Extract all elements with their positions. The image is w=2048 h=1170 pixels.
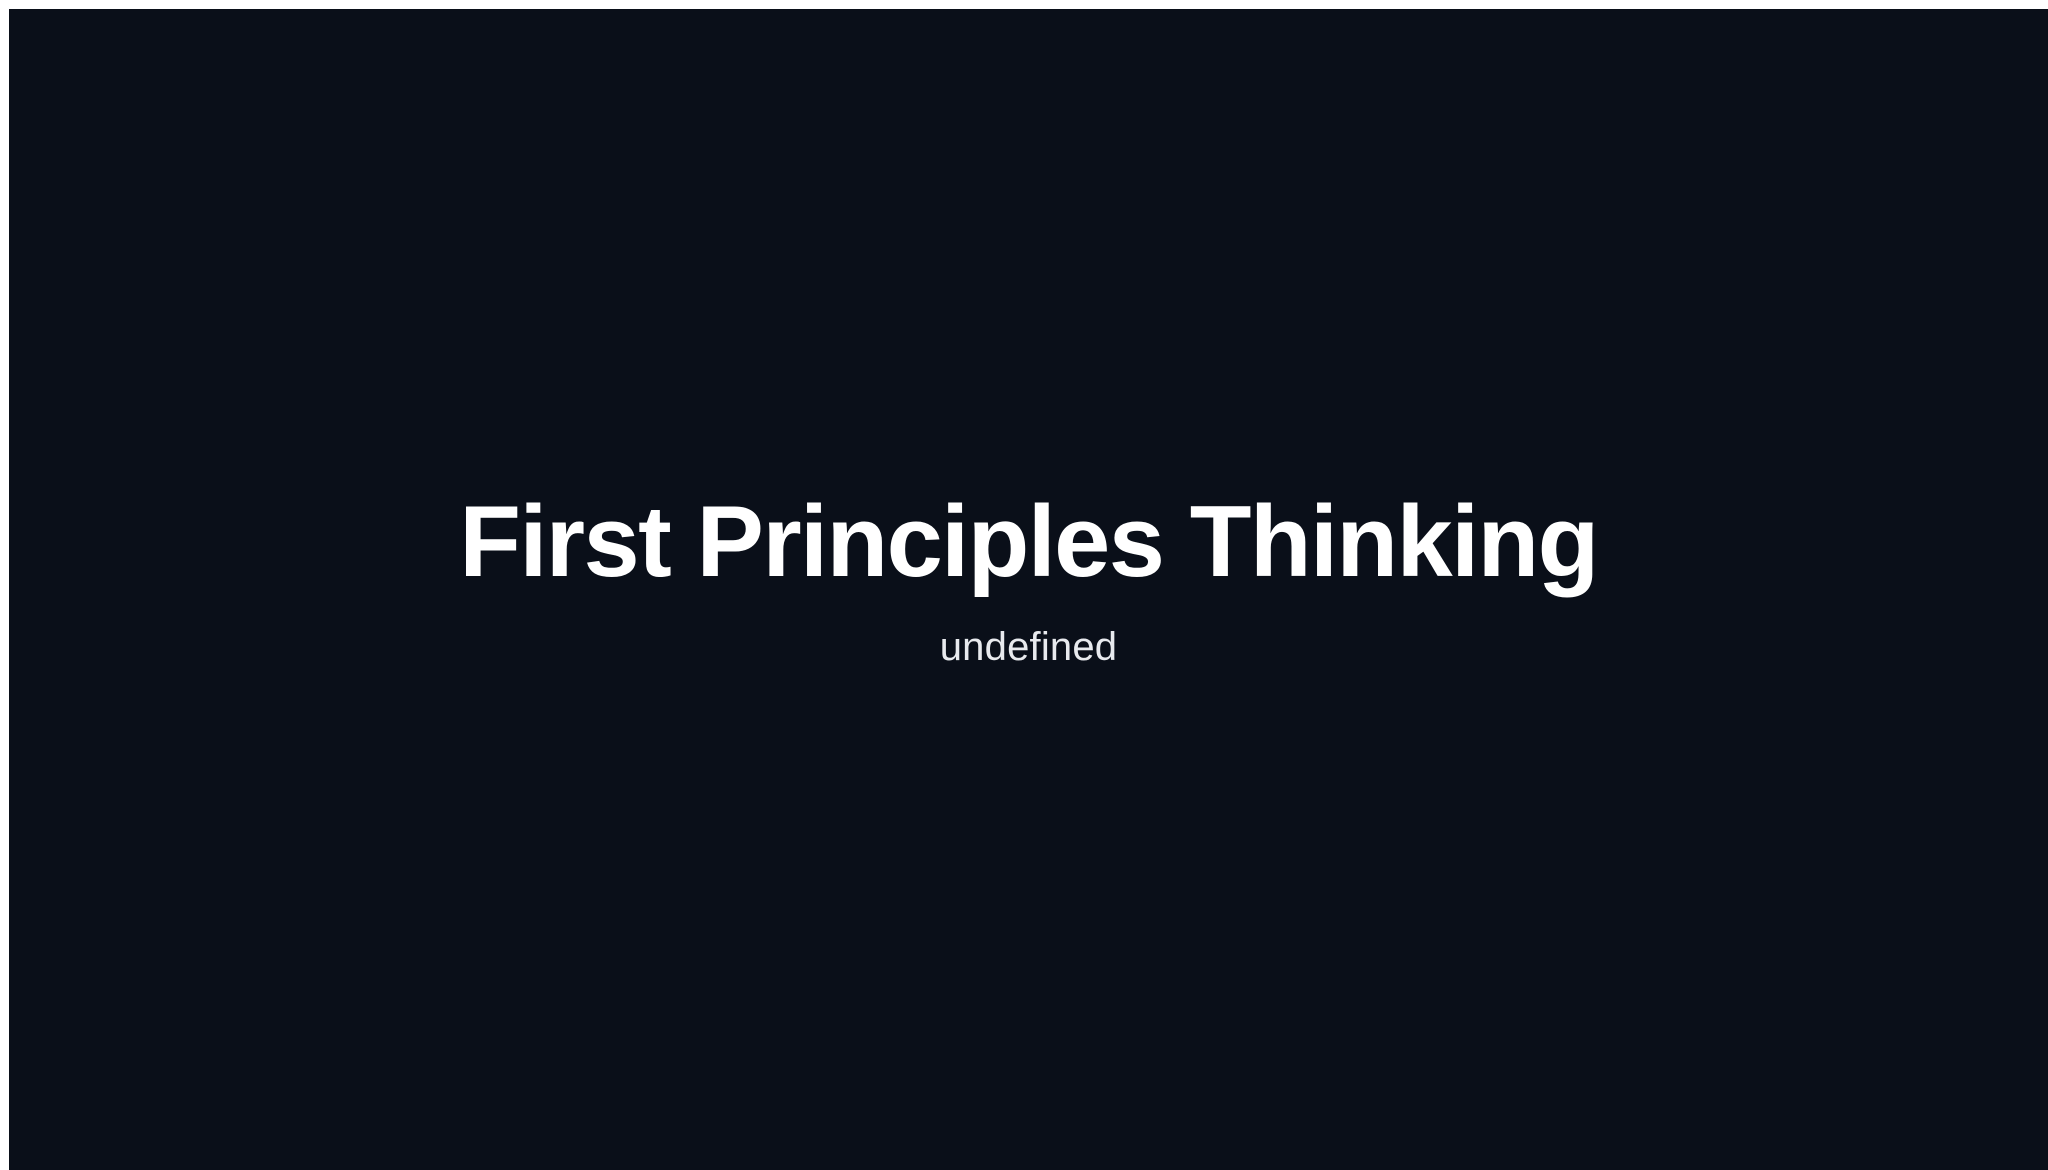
title-block: First Principles Thinking undefined [9,9,2048,1161]
slide-canvas: First Principles Thinking undefined [9,9,2048,1170]
slide-title: First Principles Thinking [459,489,1598,596]
slide-viewport: First Principles Thinking undefined [9,9,2048,1170]
slide-subtitle: undefined [940,622,1118,672]
